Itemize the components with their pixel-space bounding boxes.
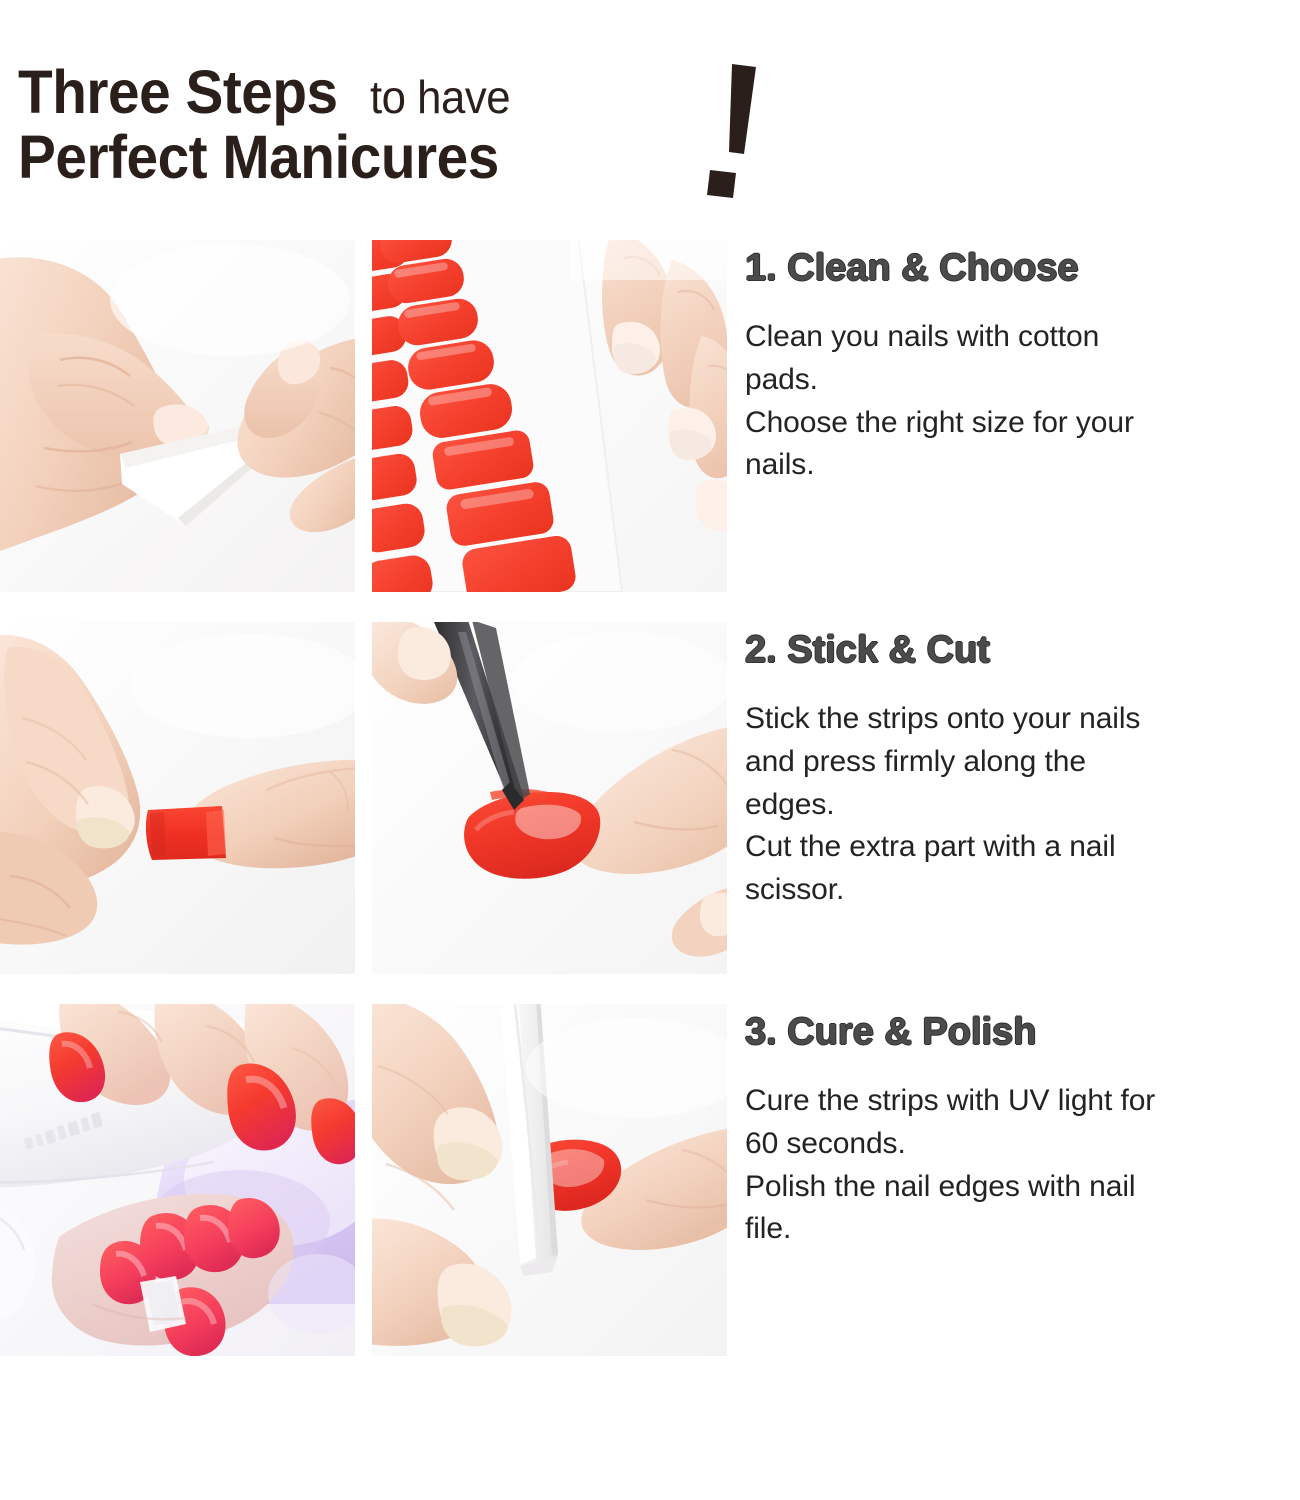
step-3-body: Cure the strips with UV light for 60 sec… xyxy=(745,1080,1300,1252)
page-title-light-1: to have xyxy=(370,74,510,120)
page-title-strong-2: Perfect Manicures xyxy=(18,127,499,188)
step-1-body: Clean you nails with cotton pads. Choose… xyxy=(745,316,1300,488)
photo-cure-under-uv-lamp xyxy=(0,1004,355,1356)
page-title-line-2: Perfect Manicures xyxy=(18,127,778,188)
photo-cut-extra-with-scissor xyxy=(372,622,727,974)
step-3-heading: 3. Cure & Polish xyxy=(745,1012,1300,1054)
photo-polish-edge-with-file xyxy=(372,1004,727,1356)
instruction-photo-grid xyxy=(0,240,727,1356)
page-title-line-1: Three Stepsto have xyxy=(18,62,778,123)
step-3: 3. Cure & Polish Cure the strips with UV… xyxy=(745,1012,1300,1251)
step-1-heading: 1. Clean & Choose xyxy=(745,248,1300,290)
page-title-strong-1: Three Steps xyxy=(18,62,338,123)
step-2-heading: 2. Stick & Cut xyxy=(745,630,1300,672)
step-2-body: Stick the strips onto your nails and pre… xyxy=(745,698,1300,912)
exclamation-mark-icon xyxy=(700,58,780,203)
page-title: Three Stepsto have Perfect Manicures xyxy=(18,62,778,202)
photo-clean-nail-cotton-pad xyxy=(0,240,355,592)
photo-nail-strip-sheet xyxy=(372,240,727,592)
photo-stick-strip-on-nail xyxy=(0,622,355,974)
step-1: 1. Clean & Choose Clean you nails with c… xyxy=(745,248,1300,487)
step-2: 2. Stick & Cut Stick the strips onto you… xyxy=(745,630,1300,912)
